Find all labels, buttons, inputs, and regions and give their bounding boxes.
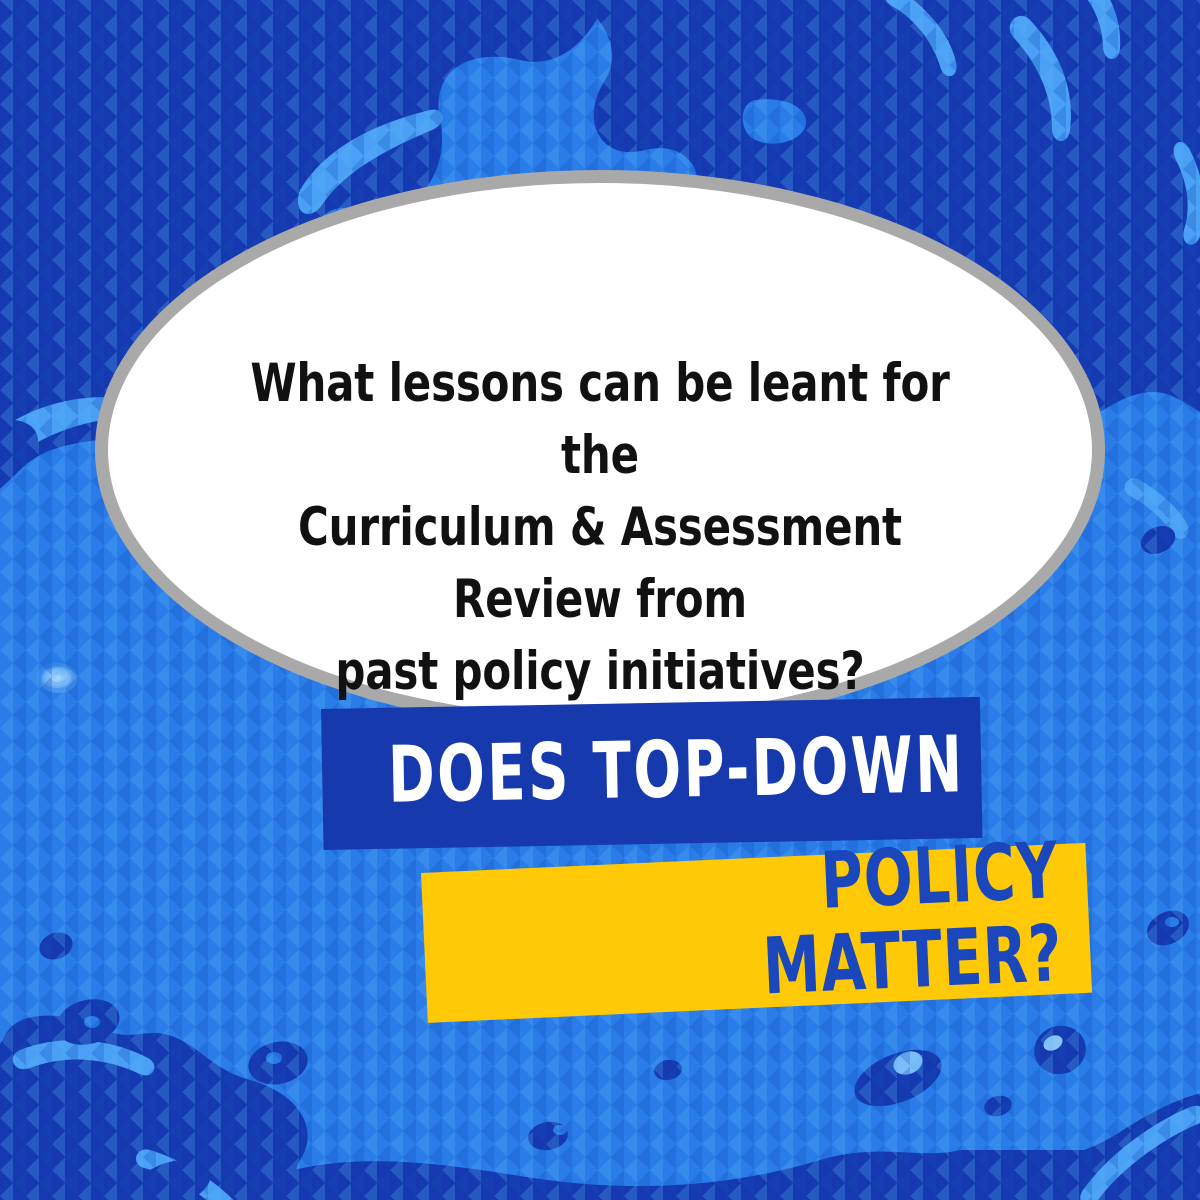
poster: What lessons can be leant for the Curric…: [0, 0, 1200, 1200]
headline-banner-yellow: POLICY MATTER?: [421, 843, 1092, 1023]
headline-banner-blue: DOES TOP-DOWN: [321, 697, 982, 850]
headline-line-two: POLICY MATTER?: [535, 830, 1064, 1020]
headline-line-one: DOES TOP-DOWN: [387, 724, 916, 818]
question-text: What lessons can be leant for the Curric…: [208, 348, 991, 708]
speech-bubble: What lessons can be leant for the Curric…: [95, 170, 1105, 730]
